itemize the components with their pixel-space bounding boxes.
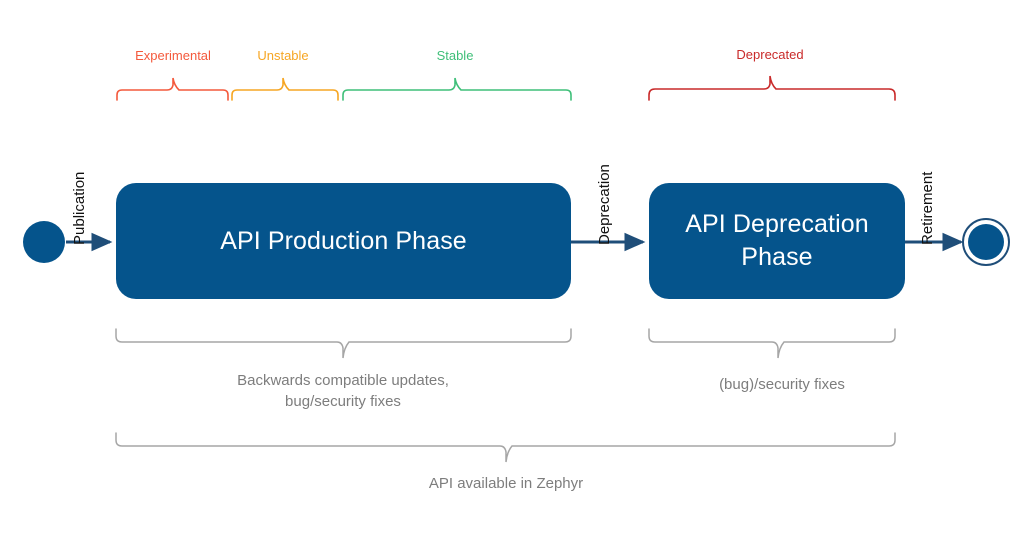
deprecation-support-label: (bug)/security fixes — [719, 374, 845, 395]
api-production-phase-box[interactable]: API Production Phase — [116, 183, 571, 299]
api-availability-bracket — [116, 433, 895, 462]
deprecation-label: Deprecation — [596, 164, 613, 245]
api-production-phase-label: API Production Phase — [220, 225, 467, 258]
unstable-bracket — [232, 78, 338, 100]
stable-bracket — [343, 78, 571, 100]
unstable-label: Unstable — [257, 48, 308, 63]
deprecated-label: Deprecated — [736, 47, 803, 62]
start-node — [23, 221, 65, 263]
api-deprecation-phase-box[interactable]: API Deprecation Phase — [649, 183, 905, 299]
production-support-bracket — [116, 329, 571, 358]
api-deprecation-phase-label: API Deprecation Phase — [685, 208, 869, 274]
publication-label: Publication — [71, 172, 88, 245]
deprecation-support-bracket — [649, 329, 895, 358]
production-support-label: Backwards compatible updates, bug/securi… — [237, 370, 449, 412]
experimental-bracket — [117, 78, 228, 100]
stable-label: Stable — [437, 48, 474, 63]
end-node — [963, 219, 1009, 265]
api-availability-label: API available in Zephyr — [429, 473, 583, 494]
retirement-label: Retirement — [919, 172, 936, 245]
deprecated-bracket — [649, 76, 895, 100]
experimental-label: Experimental — [135, 48, 211, 63]
diagram-canvas: API Production Phase API Deprecation Pha… — [0, 0, 1036, 537]
